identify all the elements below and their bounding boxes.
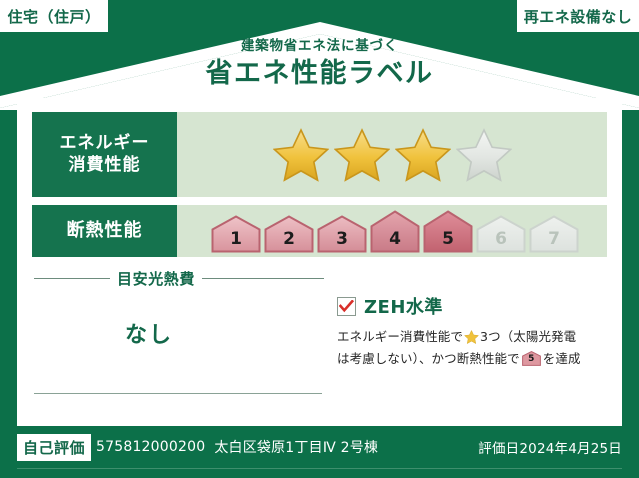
insulation-level-number: 1: [230, 229, 242, 253]
inline-badge-number: 5: [522, 353, 541, 367]
insulation-level-badge-2: 2: [264, 215, 314, 253]
energy-performance-header: エネルギー 消費性能: [32, 112, 177, 197]
footer-divider: [17, 468, 622, 469]
dwelling-type-label: 住宅（住戸）: [7, 6, 100, 27]
self-evaluation-badge: 自己評価: [17, 434, 91, 461]
renewable-equipment-tag: 再エネ設備なし: [517, 0, 639, 32]
rule-left: [34, 278, 110, 279]
zeh-description: エネルギー消費性能で 3つ（太陽光発電 は考慮しない）、かつ断熱性能で 5を達成: [337, 327, 609, 369]
insulation-level-badge-1: 1: [211, 215, 261, 253]
insulation-level-number: 4: [389, 229, 401, 253]
main-panel: エネルギー 消費性能 断熱性能 1234567 目安光熱費 なし: [17, 98, 622, 426]
insulation-level-number: 5: [442, 229, 454, 253]
insulation-performance-header: 断熱性能: [32, 205, 177, 257]
star-icon-filled: [273, 128, 329, 182]
evaluation-date: 評価日2024年4月25日: [478, 437, 622, 457]
insulation-level-number: 2: [283, 229, 295, 253]
utility-cost-divider: [34, 393, 322, 394]
inline-insulation-badge: 5: [522, 351, 541, 366]
utility-cost-section: 目安光熱費 なし: [34, 268, 324, 349]
energy-star-area: [177, 112, 607, 197]
zeh-desc-part1: エネルギー消費性能で: [337, 329, 463, 344]
building-id: 575812000200: [96, 439, 205, 455]
zeh-section: ZEH水準 エネルギー消費性能で 3つ（太陽光発電 は考慮しない）、かつ断熱性能…: [337, 293, 609, 369]
insulation-level-area: 1234567: [177, 205, 607, 257]
utility-cost-header: 目安光熱費: [34, 268, 324, 289]
insulation-level-badge-7: 7: [529, 215, 579, 253]
dwelling-type-tag: 住宅（住戸）: [0, 0, 108, 32]
insulation-header-label: 断熱性能: [67, 220, 143, 243]
footer: 自己評価 575812000200 太白区袋原1丁目Ⅳ 2号棟 評価日2024年…: [0, 426, 639, 478]
zeh-desc-part3: は考慮しない）、かつ断熱性能で: [337, 351, 520, 366]
star-icon-filled: [334, 128, 390, 182]
insulation-performance-row: 断熱性能 1234567: [32, 205, 607, 257]
title-subtitle: 建築物省エネ法に基づく: [0, 38, 639, 54]
inline-star-icon: [464, 330, 479, 349]
zeh-desc-part4: を達成: [543, 351, 581, 366]
star-icon-filled: [395, 128, 451, 182]
rule-right: [202, 278, 324, 279]
insulation-level-badge-4: 4: [370, 210, 420, 253]
renewable-equipment-label: 再エネ設備なし: [524, 6, 633, 27]
zeh-checkbox[interactable]: [337, 297, 356, 316]
utility-cost-value: なし: [34, 317, 324, 349]
insulation-level-number: 6: [495, 229, 507, 253]
page-title: 省エネ性能ラベル: [0, 57, 639, 91]
insulation-level-scale: 1234567: [211, 210, 579, 253]
zeh-header: ZEH水準: [337, 293, 609, 319]
star-rating: [273, 128, 512, 182]
insulation-level-badge-6: 6: [476, 215, 526, 253]
zeh-desc-part2: 3つ（太陽光発電: [480, 329, 576, 344]
zeh-title: ZEH水準: [364, 293, 443, 319]
title-block: 建築物省エネ法に基づく 省エネ性能ラベル: [0, 38, 639, 91]
energy-header-line2: 消費性能: [69, 155, 141, 176]
energy-performance-row: エネルギー 消費性能: [32, 112, 607, 197]
energy-performance-label: 住宅（住戸） 再エネ設備なし 建築物省エネ法に基づく 省エネ性能ラベル エネルギ…: [0, 0, 639, 478]
insulation-level-number: 7: [548, 229, 560, 253]
insulation-level-badge-3: 3: [317, 215, 367, 253]
insulation-level-number: 3: [336, 229, 348, 253]
energy-header-line1: エネルギー: [60, 133, 150, 154]
insulation-level-badge-5: 5: [423, 210, 473, 253]
check-icon: [339, 300, 354, 313]
building-address: 太白区袋原1丁目Ⅳ 2号棟: [214, 437, 378, 457]
star-icon-empty: [456, 128, 512, 182]
utility-cost-label: 目安光熱費: [117, 268, 195, 289]
